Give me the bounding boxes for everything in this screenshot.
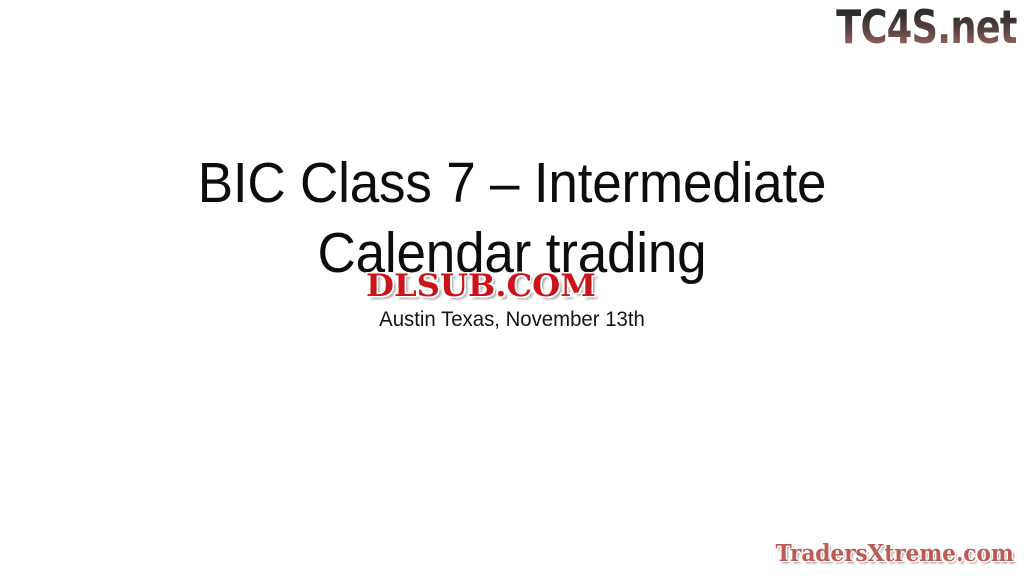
tc4s-watermark: TC4S.net <box>836 2 1017 52</box>
dlsub-watermark: DLSUB.COM <box>366 268 596 304</box>
slide-subtitle: Austin Texas, November 13th <box>15 307 1008 333</box>
tradersxtreme-watermark: TradersXtreme.com <box>776 540 1014 568</box>
title-block: BIC Class 7 – Intermediate Calendar trad… <box>0 148 1024 288</box>
presentation-slide: TC4S.net BIC Class 7 – Intermediate Cale… <box>0 0 1024 576</box>
slide-title: BIC Class 7 – Intermediate Calendar trad… <box>36 148 988 288</box>
